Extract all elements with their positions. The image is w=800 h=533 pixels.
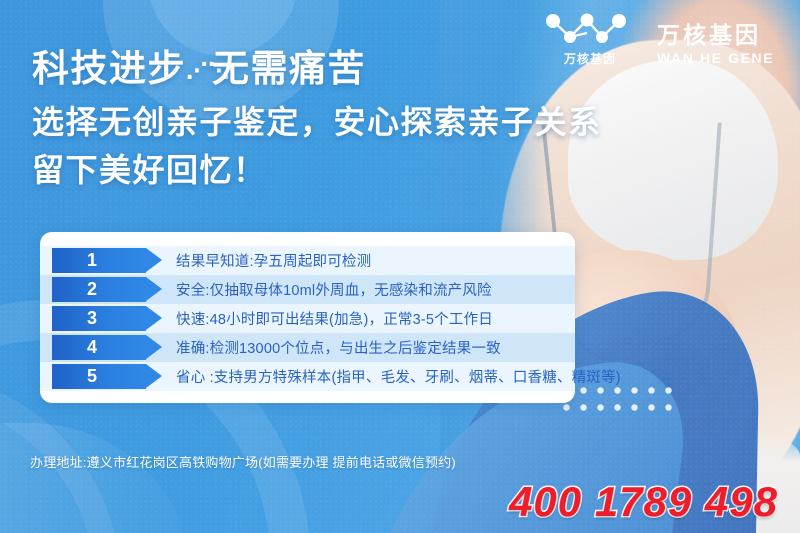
headline-block: 科技进步⋰⋱无需痛苦 选择无创亲子鉴定，安心探索亲子关系 留下美好回忆！ [32, 42, 672, 194]
feature-text: 省心 :支持男方特殊样本(指甲、毛发、牙刷、烟蒂、口香糖、精斑等) [176, 366, 621, 387]
feature-number-badge: 4 [52, 335, 146, 360]
hotline-phone-number[interactable]: 400 1789 498 [509, 478, 778, 526]
decorative-dot-grid [558, 382, 673, 420]
feature-number-badge: 1 [52, 248, 146, 273]
office-address: 办理地址:遵义市红花岗区高铁购物广场(如需要办理 提前电话或微信预约) [30, 452, 456, 471]
headline-line-1-part-b: 无需痛苦 [212, 48, 366, 89]
feature-number-badge: 3 [52, 306, 146, 331]
feature-row: 1 结果早知道:孕五周起即可检测 [40, 246, 575, 275]
headline-line-1: 科技进步⋰⋱无需痛苦 [32, 42, 672, 98]
feature-row: 5 省心 :支持男方特殊样本(指甲、毛发、牙刷、烟蒂、口香糖、精斑等) [40, 362, 575, 391]
logo-name-en: WAN HE GENE [657, 51, 774, 66]
feature-list-panel: 1 结果早知道:孕五周起即可检测 2 安全:仅抽取母体10ml外周血，无感染和流… [40, 232, 575, 403]
logo-wordmark: 万核基因 WAN HE GENE [657, 23, 774, 66]
logo-name-cn: 万核基因 [657, 23, 774, 47]
feature-text: 准确:检测13000个位点，与出生之后鉴定结果一致 [176, 337, 501, 358]
headline-line-2: 选择无创亲子鉴定，安心探索亲子关系 [32, 98, 672, 146]
headline-line-3: 留下美好回忆！ [32, 146, 672, 194]
feature-text: 结果早知道:孕五周起即可检测 [176, 250, 371, 271]
promo-banner: 万核基因 万核基因 WAN HE GENE 科技进步⋰⋱无需痛苦 选择无创亲子鉴… [0, 0, 800, 533]
feature-row: 3 快速:48小时即可出结果(加急)，正常3-5个工作日 [40, 304, 575, 333]
headline-decorative-dots: ⋰⋱ [186, 44, 212, 98]
headline-line-1-part-a: 科技进步 [32, 48, 186, 89]
feature-text: 快速:48小时即可出结果(加急)，正常3-5个工作日 [176, 308, 493, 329]
feature-number-badge: 5 [52, 364, 146, 389]
feature-row: 2 安全:仅抽取母体10ml外周血，无感染和流产风险 [40, 275, 575, 304]
feature-text: 安全:仅抽取母体10ml外周血，无感染和流产风险 [176, 279, 492, 300]
feature-number-badge: 2 [52, 277, 146, 302]
feature-row: 4 准确:检测13000个位点，与出生之后鉴定结果一致 [40, 333, 575, 362]
